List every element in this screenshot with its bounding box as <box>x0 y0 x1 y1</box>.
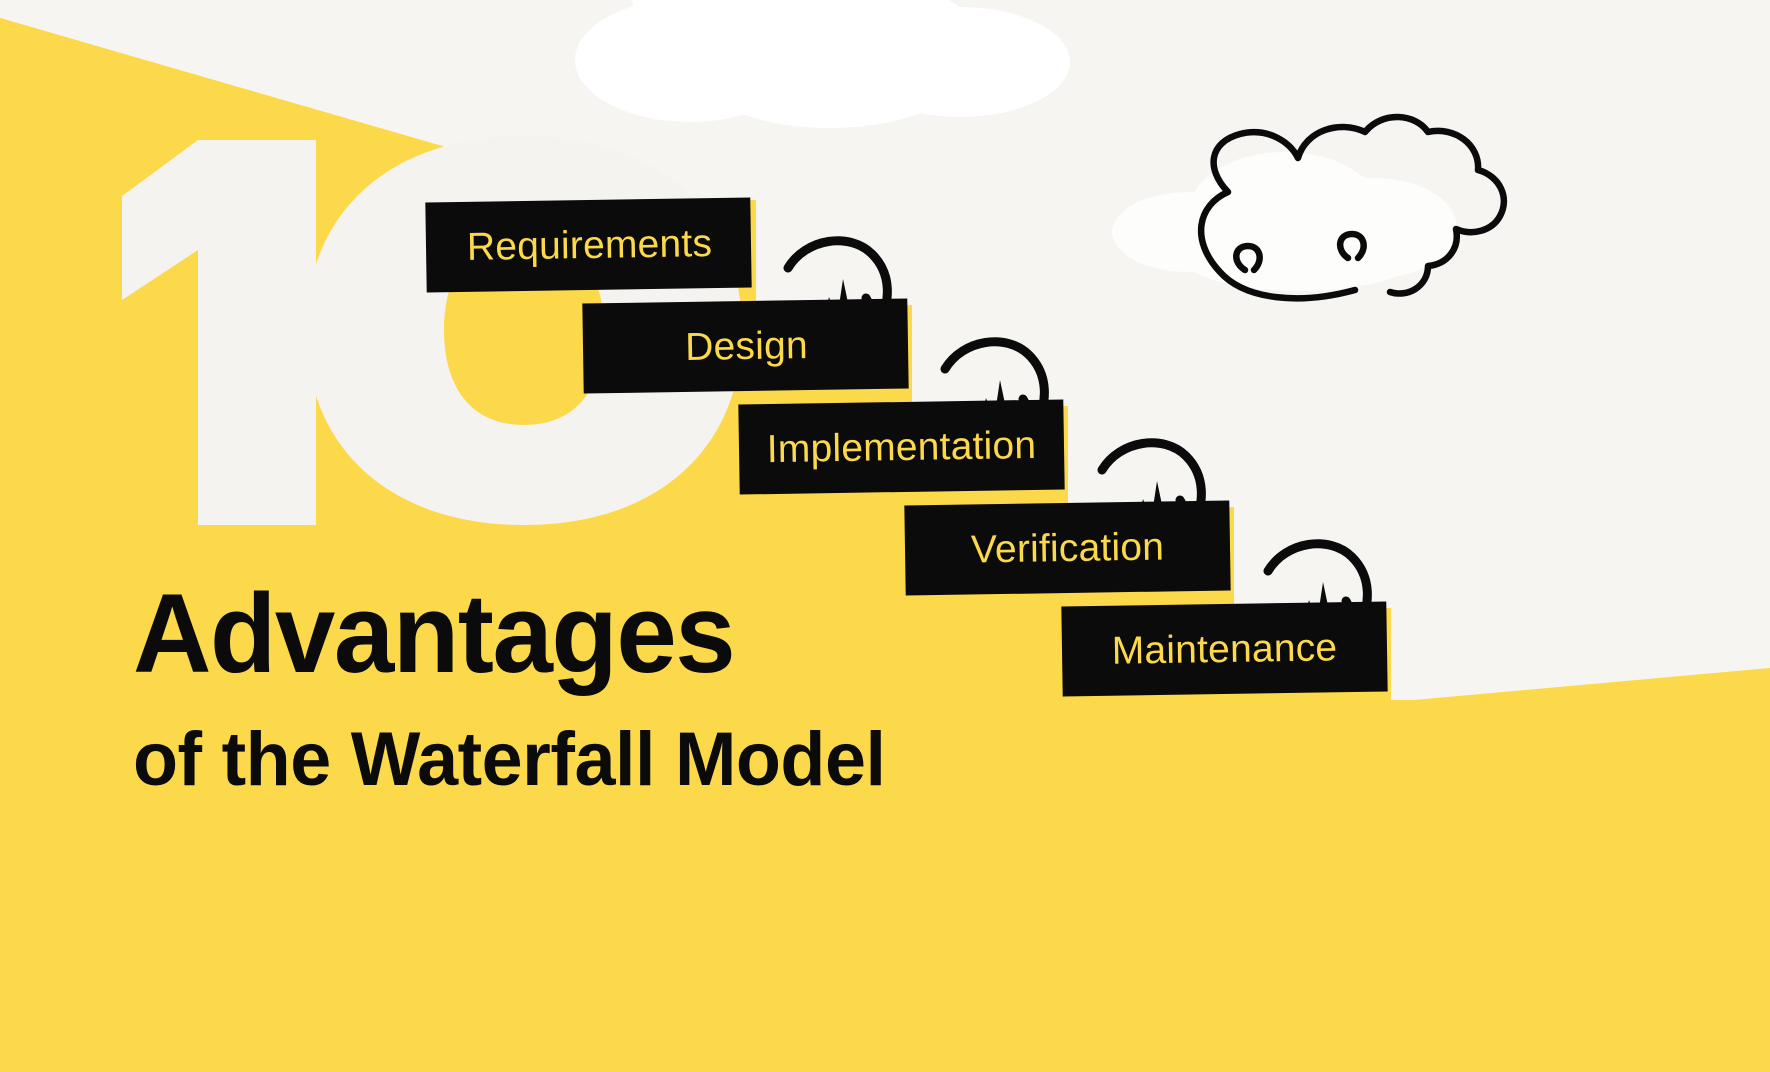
arrow-requirements-to-design <box>787 241 903 325</box>
connector-arrows-layer <box>0 0 1770 1072</box>
arrow-verification-to-maintenance <box>1267 544 1383 628</box>
page-title: Advantages <box>133 578 734 690</box>
arrow-implementation-to-verification <box>1101 443 1217 527</box>
poster-canvas: Requirements Design Implementation Verif… <box>0 0 1770 1072</box>
page-subtitle: of the Waterfall Model <box>133 722 885 798</box>
arrow-design-to-implementation <box>944 342 1060 426</box>
